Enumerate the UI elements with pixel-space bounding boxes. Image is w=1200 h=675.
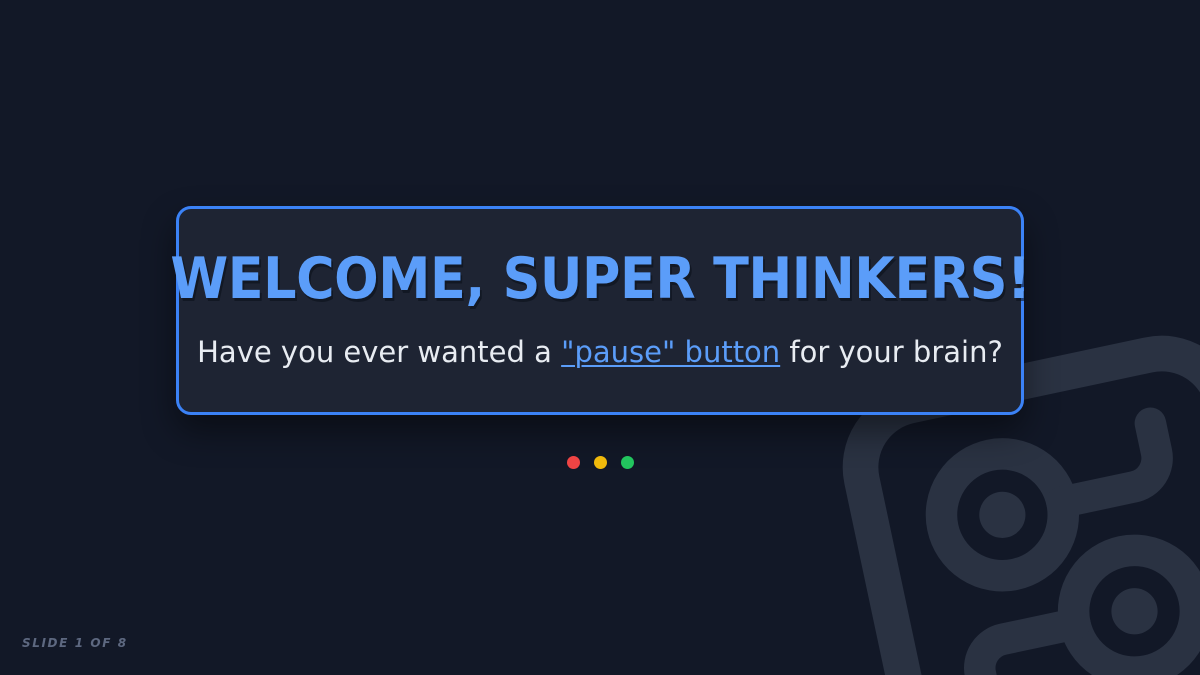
slide-stage: WELCOME, SUPER THINKERS! Have you ever w… bbox=[0, 0, 1200, 675]
subtitle-prefix: Have you ever wanted a bbox=[197, 335, 561, 369]
dot-yellow[interactable] bbox=[594, 456, 607, 469]
dot-red[interactable] bbox=[567, 456, 580, 469]
subtitle-suffix: for your brain? bbox=[780, 335, 1003, 369]
slide-indicator-dots bbox=[0, 456, 1200, 469]
subtitle-highlight: "pause" button bbox=[561, 335, 780, 369]
subtitle: Have you ever wanted a "pause" button fo… bbox=[197, 336, 1003, 369]
page-title: WELCOME, SUPER THINKERS! bbox=[170, 251, 1030, 308]
slide-counter: SLIDE 1 OF 8 bbox=[22, 636, 128, 650]
dot-green[interactable] bbox=[621, 456, 634, 469]
title-card: WELCOME, SUPER THINKERS! Have you ever w… bbox=[176, 206, 1024, 415]
